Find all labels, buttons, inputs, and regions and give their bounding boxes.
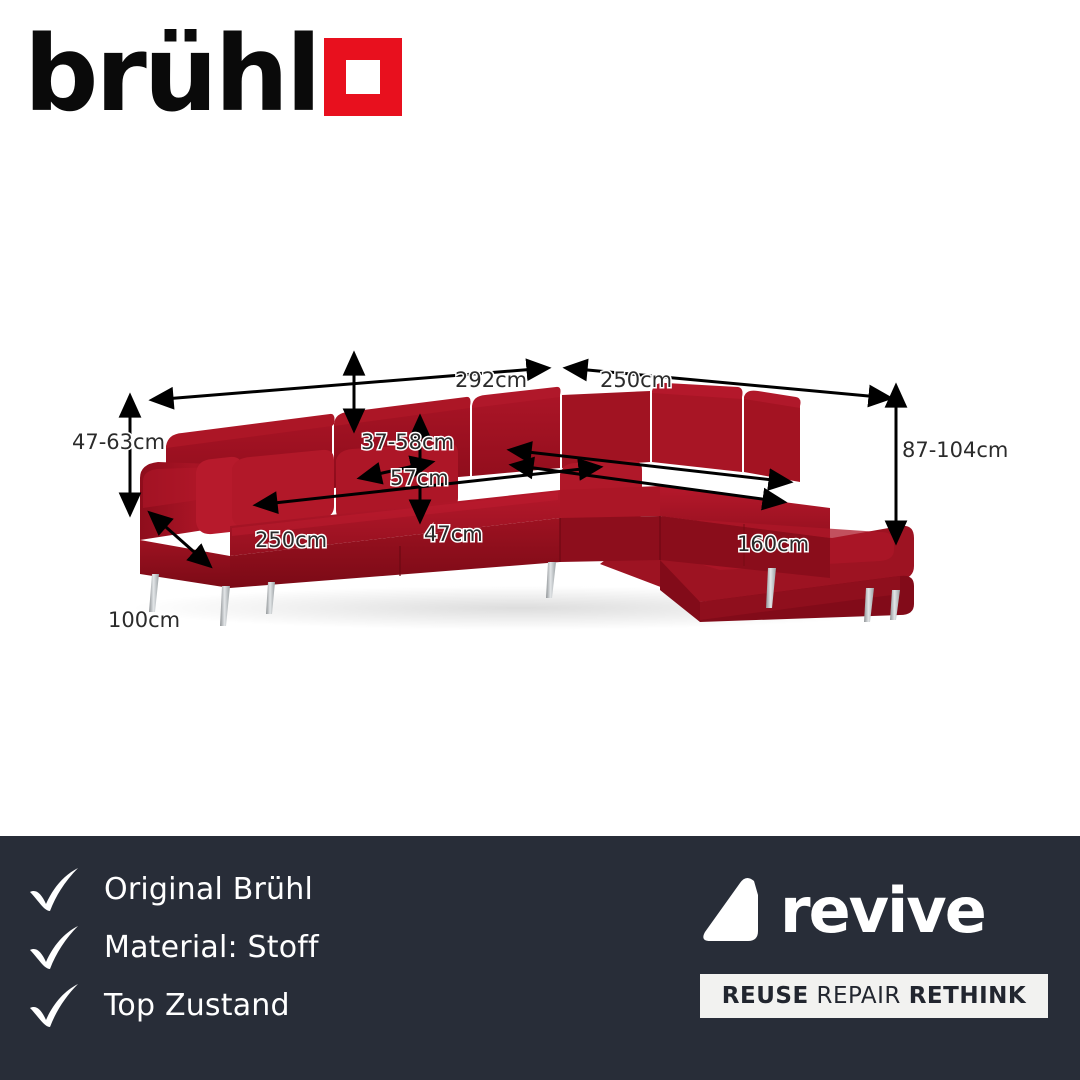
- feature-item: Top Zustand: [26, 976, 319, 1034]
- dim-label-total-height: 87-104cm: [902, 438, 1008, 462]
- revive-tagline-bar: REUSE REPAIR RETHINK: [700, 974, 1048, 1018]
- dim-label-armrest-height: 47-63cm: [72, 430, 165, 454]
- product-image-stage: 292cm 250cm 47-63cm 37-58cm 57cm 250cm 4…: [0, 350, 1080, 680]
- arrow-corner-cross: [510, 450, 790, 482]
- feature-item: Material: Stoff: [26, 918, 319, 976]
- revive-wordmark: revive: [780, 880, 985, 942]
- revive-leaf-icon: [700, 875, 772, 947]
- brand-logo: brühl: [24, 22, 402, 126]
- dim-label-backrest-height: 37-58cm: [361, 430, 454, 454]
- check-icon: [26, 866, 82, 912]
- brand-square-icon: [324, 38, 402, 116]
- feature-label: Original Brühl: [104, 872, 313, 907]
- dim-label-overall-width: 292cm: [455, 368, 527, 392]
- feature-label: Material: Stoff: [104, 930, 319, 965]
- dim-label-seat-width: 250cm: [255, 528, 327, 552]
- dim-label-sofa-depth: 100cm: [108, 608, 180, 632]
- revive-logo-top: revive: [700, 870, 1050, 952]
- dim-label-overall-depth: 250cm: [600, 368, 672, 392]
- arrow-160cm: [512, 465, 784, 502]
- tagline-word-reuse: REUSE: [722, 983, 809, 1009]
- revive-tagline: REUSE REPAIR RETHINK: [722, 983, 1026, 1009]
- tagline-word-rethink: RETHINK: [909, 983, 1027, 1009]
- check-icon: [26, 982, 82, 1028]
- arrow-100cm: [150, 513, 210, 566]
- tagline-word-repair: REPAIR: [816, 983, 900, 1009]
- feature-label: Top Zustand: [104, 988, 290, 1023]
- dim-label-seat-height: 47cm: [424, 522, 483, 546]
- brand-square-inner: [346, 60, 380, 94]
- feature-item: Original Brühl: [26, 860, 319, 918]
- brand-wordmark: brühl: [24, 22, 318, 126]
- check-icon: [26, 924, 82, 970]
- revive-logo: revive REUSE REPAIR RETHINK: [700, 870, 1050, 1018]
- dim-label-seat-depth: 57cm: [390, 466, 449, 490]
- feature-list: Original Brühl Material: Stoff Top Zusta…: [26, 860, 319, 1034]
- dim-label-chaise-length: 160cm: [737, 532, 809, 556]
- footer-band: Original Brühl Material: Stoff Top Zusta…: [0, 836, 1080, 1080]
- product-listing-image: brühl: [0, 0, 1080, 1080]
